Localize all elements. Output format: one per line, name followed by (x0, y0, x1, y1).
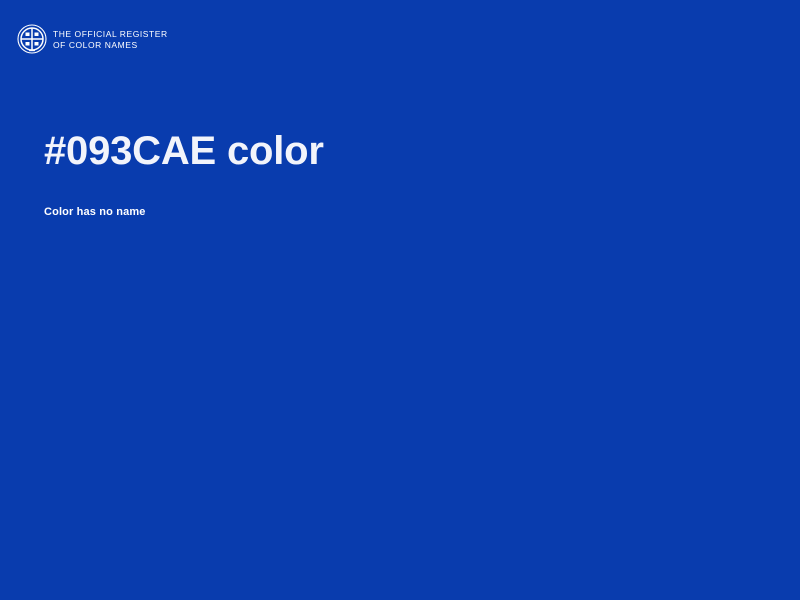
brand-lockup[interactable]: THE OFFICIAL REGISTER OF COLOR NAMES (17, 24, 168, 54)
page-title: #093CAE color (44, 128, 744, 174)
brand-wordmark-line-1: THE OFFICIAL REGISTER (53, 29, 168, 40)
register-seal-icon (17, 24, 47, 54)
color-name-status: Color has no name (44, 174, 744, 219)
brand-wordmark: THE OFFICIAL REGISTER OF COLOR NAMES (53, 28, 168, 50)
color-page: THE OFFICIAL REGISTER OF COLOR NAMES #09… (0, 0, 800, 600)
brand-wordmark-line-2: OF COLOR NAMES (53, 40, 168, 51)
color-info-block: #093CAE color Color has no name (44, 128, 744, 219)
